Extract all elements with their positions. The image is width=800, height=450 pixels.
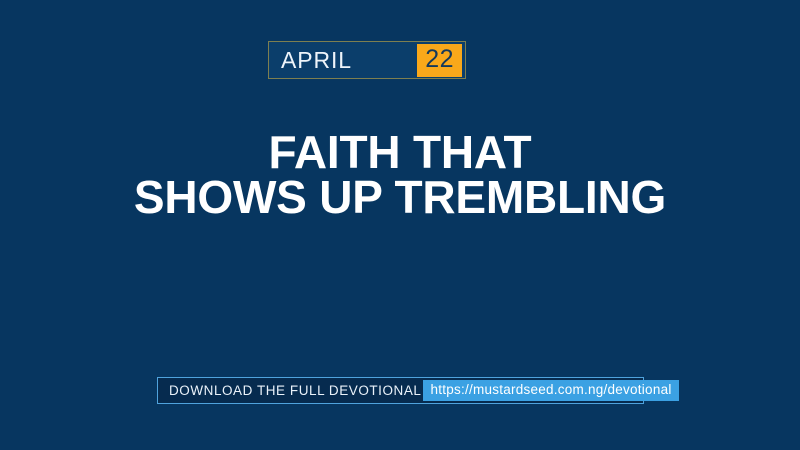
devotional-url-link[interactable]: https://mustardseed.com.ng/devotional: [423, 380, 678, 401]
title-line-1: FAITH THAT: [0, 130, 800, 175]
date-badge: APRIL 22: [268, 41, 466, 79]
download-cta-bar[interactable]: DOWNLOAD THE FULL DEVOTIONAL https://mus…: [157, 377, 644, 404]
devotional-title: FAITH THAT SHOWS UP TREMBLING: [0, 130, 800, 220]
devotional-url-container: https://mustardseed.com.ng/devotional: [421, 378, 680, 403]
date-month-label: APRIL: [269, 42, 352, 78]
date-day-container: 22: [414, 42, 465, 78]
title-line-2: SHOWS UP TREMBLING: [0, 175, 800, 220]
download-cta-label: DOWNLOAD THE FULL DEVOTIONAL: [158, 384, 421, 398]
devotional-slide: APRIL 22 FAITH THAT SHOWS UP TREMBLING D…: [0, 0, 800, 450]
date-day-value: 22: [417, 44, 462, 77]
